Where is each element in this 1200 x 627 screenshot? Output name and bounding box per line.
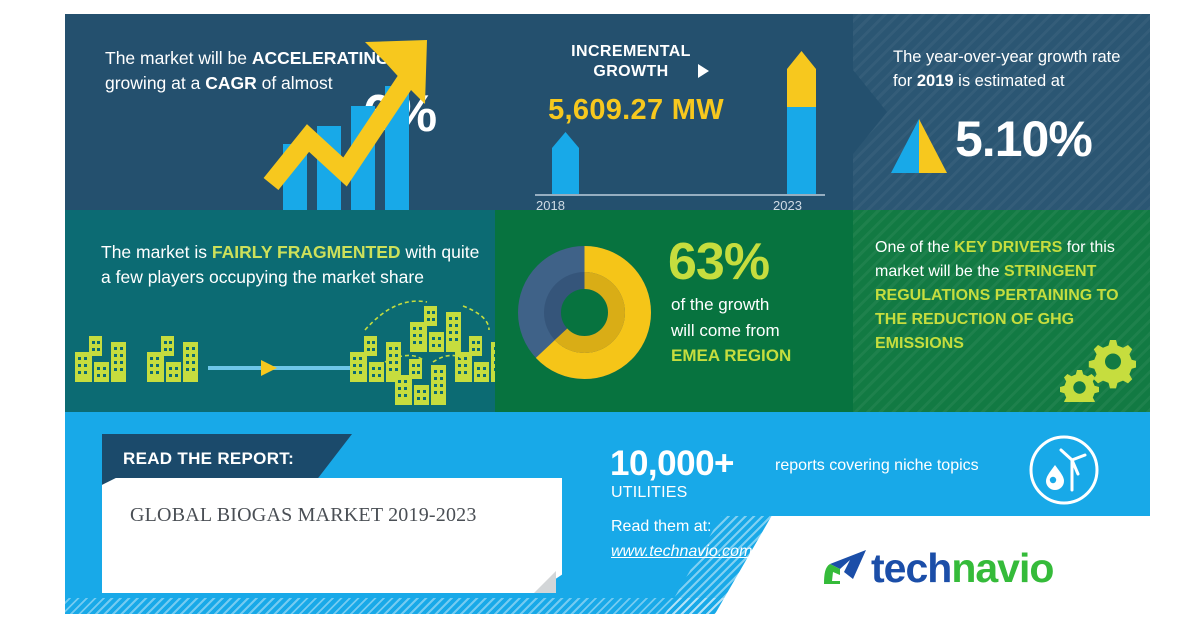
technavio-logo-text: technavio xyxy=(871,545,1053,592)
footer-panel: READ THE REPORT: GLOBAL BIOGAS MARKET 20… xyxy=(65,412,1150,614)
axis-label-2018: 2018 xyxy=(536,198,565,210)
gears-icon xyxy=(1058,336,1136,402)
emea-region-label: EMEA REGION xyxy=(671,346,791,365)
yoy-growth-panel: The year-over-year growth rate for 2019 … xyxy=(853,14,1150,210)
read-the-report-label: READ THE REPORT: xyxy=(123,449,294,469)
building-cluster-5 xyxy=(395,359,446,405)
yoy-year: 2019 xyxy=(917,72,954,90)
logo-text-tech: tech xyxy=(871,545,951,591)
cagr-panel: The market will be ACCELERATING growing … xyxy=(65,14,495,210)
emea-line2: will come from xyxy=(671,321,780,340)
yoy-statement: The year-over-year growth rate for 2019 … xyxy=(893,46,1133,94)
building-cluster-1 xyxy=(75,336,126,382)
incremental-growth-panel: INCREMENTAL GROWTH 5,609.27 MW 2018 2023 xyxy=(495,14,853,210)
building-cluster-2 xyxy=(147,336,198,382)
bar-2023 xyxy=(787,51,816,194)
axis-label-2023: 2023 xyxy=(773,198,802,210)
play-triangle-icon xyxy=(698,64,709,78)
yoy-line2-post: is estimated at xyxy=(954,72,1065,90)
incremental-title-line2: GROWTH xyxy=(593,63,668,80)
fragment-arrow-2 xyxy=(463,306,489,330)
yoy-line2-pre: for xyxy=(893,72,917,90)
connector-arrowhead xyxy=(261,360,277,376)
emea-percent-value: 63% xyxy=(668,232,769,292)
report-count-value: 10,000+ xyxy=(610,444,734,484)
vertical-label: UTILITIES xyxy=(611,484,687,502)
incremental-growth-value: 5,609.27 MW xyxy=(531,94,741,127)
building-cluster-4 xyxy=(410,306,461,352)
market-fragmentation-diagram xyxy=(65,210,495,412)
technavio-logo-mark xyxy=(820,548,866,588)
up-triangle-icon xyxy=(891,119,947,173)
incremental-title-line1: INCREMENTAL xyxy=(571,43,691,60)
logo-text-navio: navio xyxy=(951,545,1053,591)
emea-line1: of the growth xyxy=(671,295,769,314)
yoy-line1: The year-over-year growth rate xyxy=(893,48,1120,66)
report-title-card xyxy=(102,478,562,593)
report-title-text[interactable]: GLOBAL BIOGAS MARKET 2019-2023 xyxy=(130,504,477,527)
incremental-axis-line xyxy=(535,194,825,196)
yoy-percent-value: 5.10% xyxy=(955,110,1092,168)
utilities-icon xyxy=(1028,434,1100,506)
infographic-root: The market will be ACCELERATING growing … xyxy=(65,14,1150,614)
donut-hole xyxy=(562,290,608,336)
key-drivers-panel: One of the KEY DRIVERS for this market w… xyxy=(853,210,1150,412)
bar-2018 xyxy=(552,132,579,194)
emea-growth-panel: 63% of the growth will come from EMEA RE… xyxy=(495,210,853,412)
drv-pre: One of the xyxy=(875,239,954,256)
read-them-at-label: Read them at: xyxy=(611,518,712,536)
fragmented-market-panel: The market is FAIRLY FRAGMENTED with qui… xyxy=(65,210,495,412)
growth-bars-arrow-chart xyxy=(65,14,495,210)
drv-highlight-1: KEY DRIVERS xyxy=(954,239,1062,256)
report-count-description: reports covering niche topics xyxy=(775,457,979,475)
emea-description: of the growth will come from EMEA REGION xyxy=(671,292,846,369)
emea-donut-chart xyxy=(518,246,651,379)
